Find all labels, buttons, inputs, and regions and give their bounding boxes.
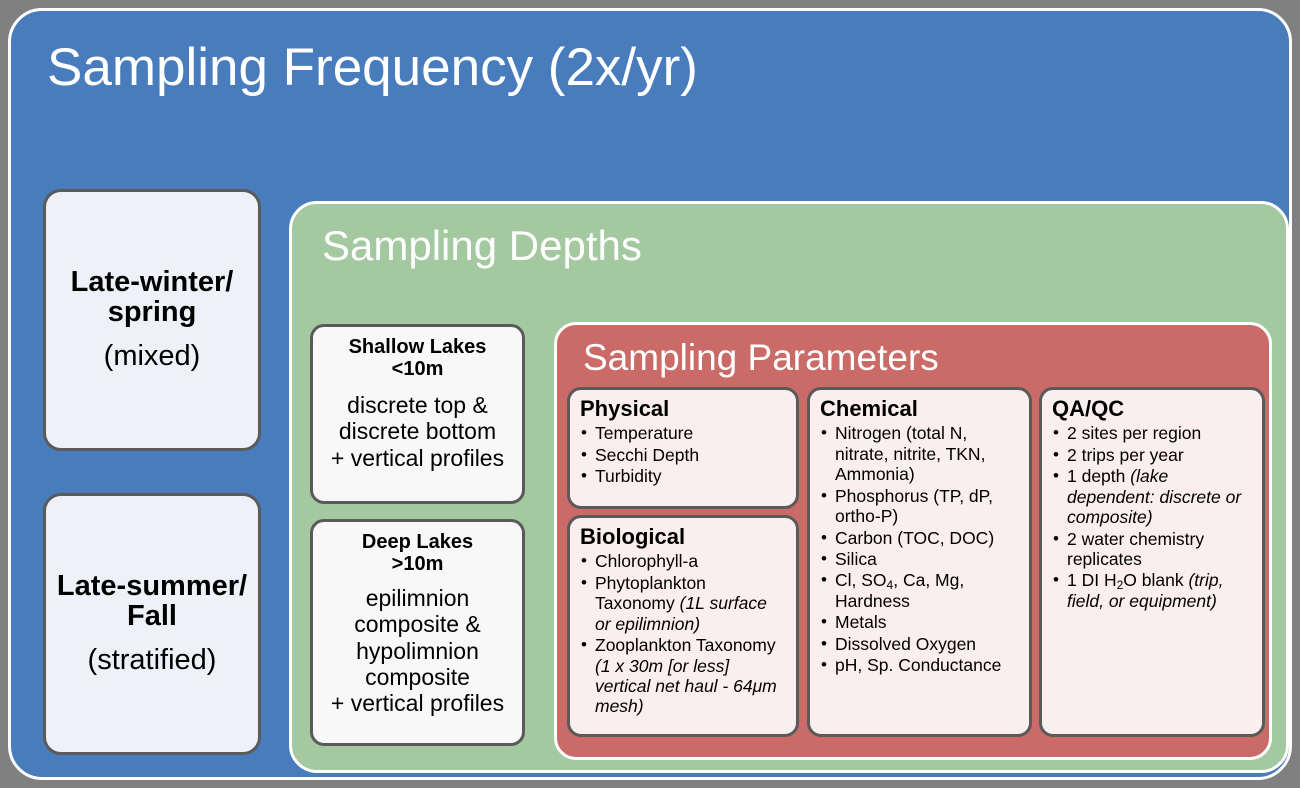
sampling-parameters-title: Sampling Parameters xyxy=(583,337,939,379)
list-item: Dissolved Oxygen xyxy=(820,634,1020,654)
list-item: 2 trips per year xyxy=(1052,445,1253,465)
parameter-card-biological: Biological Chlorophyll-a Phytoplankton T… xyxy=(567,515,799,737)
season-subtitle: (stratified) xyxy=(88,645,217,675)
list-item: Nitrogen (total N, nitrate, nitrite, TKN… xyxy=(820,423,1020,484)
sampling-depths-title: Sampling Depths xyxy=(322,222,642,270)
season-title: Late-summer/ Fall xyxy=(54,572,250,631)
list-item: Chlorophyll-a xyxy=(580,551,787,571)
parameter-card-qaqc: QA/QC 2 sites per region 2 trips per yea… xyxy=(1039,387,1265,737)
parameter-card-physical: Physical Temperature Secchi Depth Turbid… xyxy=(567,387,799,509)
deep-lakes-box: Deep Lakes>10m epilimnioncomposite &hypo… xyxy=(310,519,525,746)
list-item: pH, Sp. Conductance xyxy=(820,655,1020,675)
shallow-lakes-title: Shallow Lakes<10m xyxy=(319,337,516,380)
list-item: Silica xyxy=(820,549,1020,569)
list-item: 2 water chemistry replicates xyxy=(1052,529,1253,570)
parameter-list-chemical: Nitrogen (total N, nitrate, nitrite, TKN… xyxy=(820,423,1020,676)
diagram-canvas: Sampling Frequency (2x/yr) Late-winter/ … xyxy=(0,0,1300,788)
card-title: QA/QC xyxy=(1052,397,1253,421)
season-subtitle: (mixed) xyxy=(104,341,201,371)
card-title: Physical xyxy=(580,397,787,421)
season-box-late-winter-spring: Late-winter/ spring (mixed) xyxy=(43,189,261,451)
list-item: 1 depth (lake dependent: discrete or com… xyxy=(1052,466,1253,527)
season-title: Late-winter/ spring xyxy=(54,268,250,327)
deep-lakes-title: Deep Lakes>10m xyxy=(319,532,516,575)
list-item: Phosphorus (TP, dP, ortho-P) xyxy=(820,486,1020,527)
list-item: Carbon (TOC, DOC) xyxy=(820,528,1020,548)
card-title: Biological xyxy=(580,525,787,549)
sampling-parameters-panel: Sampling Parameters Physical Temperature… xyxy=(554,322,1272,760)
list-item: Metals xyxy=(820,612,1020,632)
shallow-lakes-body: discrete top &discrete bottom+ vertical … xyxy=(319,392,516,471)
list-item: Secchi Depth xyxy=(580,445,787,465)
list-item: Phytoplankton Taxonomy (1L surface or ep… xyxy=(580,573,787,634)
sampling-frequency-panel: Sampling Frequency (2x/yr) Late-winter/ … xyxy=(8,8,1292,780)
parameter-list-physical: Temperature Secchi Depth Turbidity xyxy=(580,423,787,486)
list-item: 2 sites per region xyxy=(1052,423,1253,443)
deep-lakes-body: epilimnioncomposite &hypolimnioncomposit… xyxy=(319,585,516,716)
shallow-lakes-box: Shallow Lakes<10m discrete top &discrete… xyxy=(310,324,525,504)
page-title: Sampling Frequency (2x/yr) xyxy=(47,37,698,98)
parameter-list-qaqc: 2 sites per region 2 trips per year 1 de… xyxy=(1052,423,1253,611)
list-item: Temperature xyxy=(580,423,787,443)
list-item: Zooplankton Taxonomy (1 x 30m [or less] … xyxy=(580,635,787,717)
list-item: Cl, SO4, Ca, Mg, Hardness xyxy=(820,570,1020,611)
parameter-card-chemical: Chemical Nitrogen (total N, nitrate, nit… xyxy=(807,387,1032,737)
card-title: Chemical xyxy=(820,397,1020,421)
season-box-late-summer-fall: Late-summer/ Fall (stratified) xyxy=(43,493,261,755)
sampling-depths-panel: Sampling Depths Shallow Lakes<10m discre… xyxy=(289,201,1289,773)
parameter-list-biological: Chlorophyll-a Phytoplankton Taxonomy (1L… xyxy=(580,551,787,717)
list-item: Turbidity xyxy=(580,466,787,486)
list-item: 1 DI H2O blank (trip, field, or equipmen… xyxy=(1052,570,1253,611)
